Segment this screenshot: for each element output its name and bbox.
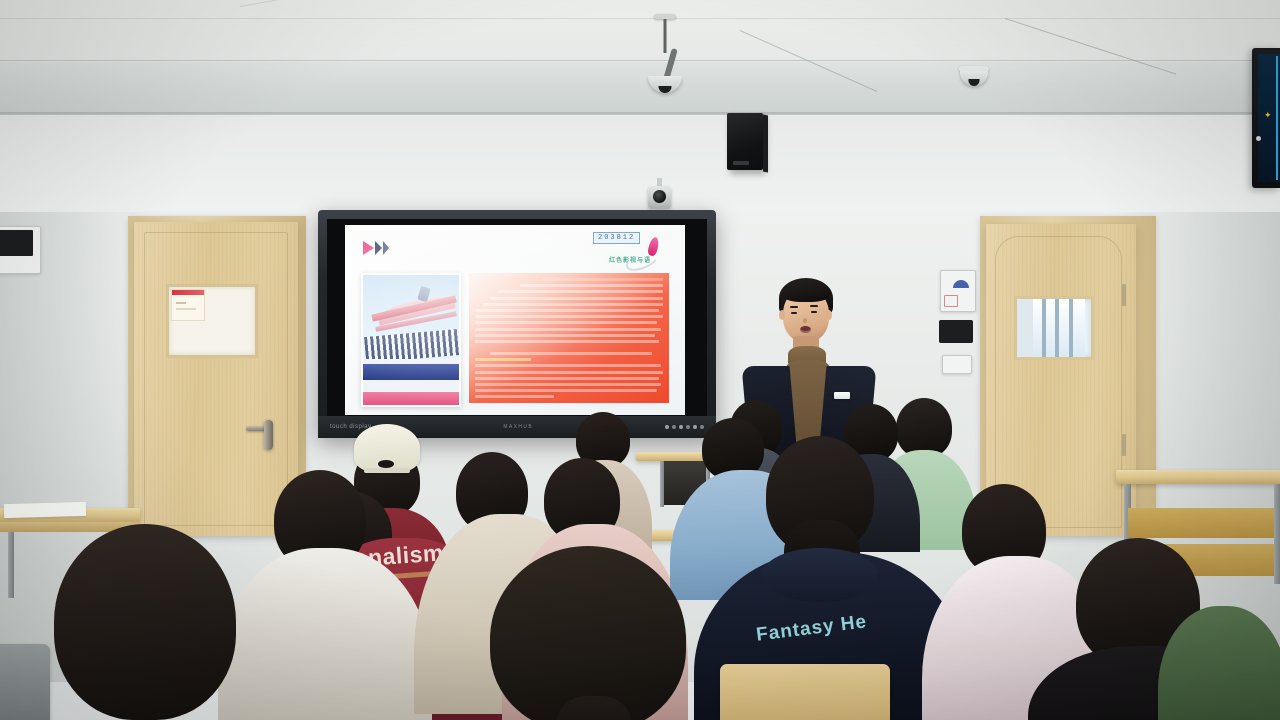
- chair-back-left: [0, 644, 50, 720]
- dome-camera-right: [955, 66, 993, 106]
- whiteboard-brand: MAXHUB: [503, 424, 533, 430]
- desk-papers: [4, 502, 86, 518]
- classroom-photo: ✦: [0, 0, 1280, 720]
- door-glass-left: [166, 284, 258, 358]
- bullet-camera: [648, 178, 678, 214]
- chevron-arrow-logo: [363, 241, 389, 255]
- wall-control-display-right[interactable]: [939, 320, 973, 343]
- slide-photo: [361, 273, 461, 407]
- presenter-mouth: [800, 326, 811, 333]
- chair-back-center: [720, 664, 890, 720]
- door-notice: [171, 289, 205, 321]
- slide-brand-ribbon: [633, 237, 673, 269]
- whiteboard-screen[interactable]: 203812 红色影视与语: [327, 219, 707, 416]
- wall-socket-right[interactable]: [942, 355, 972, 374]
- student-green-sleeve: [1158, 606, 1280, 720]
- student-foreground-left: [28, 524, 288, 720]
- slide-brand-text: 红色影视与语: [609, 255, 651, 264]
- wall-speaker: [727, 113, 763, 170]
- door-window-blinds: [1014, 296, 1094, 360]
- dome-camera-left: [645, 14, 685, 114]
- slide-text-block: [469, 273, 669, 403]
- interactive-whiteboard[interactable]: 203812 红色影视与语: [318, 210, 716, 438]
- presenter-badge: [834, 392, 850, 399]
- student-foreground-center: [460, 546, 740, 720]
- side-display[interactable]: ✦: [1252, 48, 1280, 188]
- presentation-slide: 203812 红色影视与语: [345, 225, 685, 415]
